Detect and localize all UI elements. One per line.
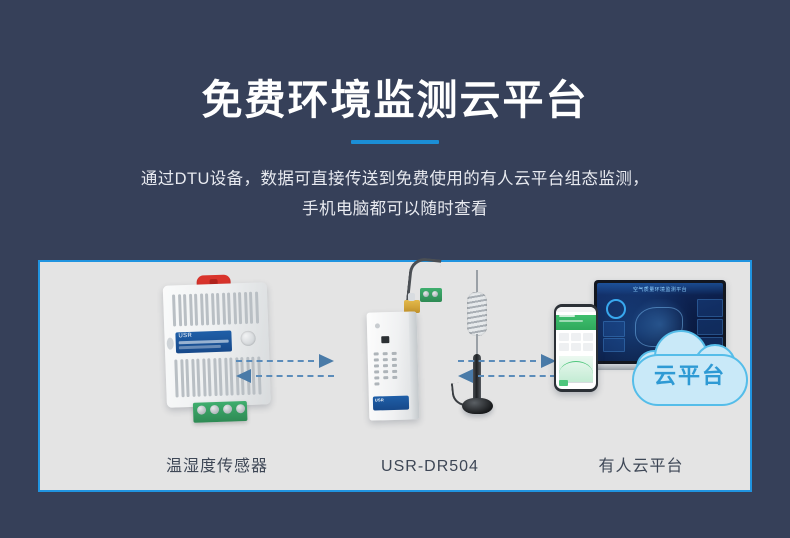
dashboard-panel — [697, 299, 723, 317]
cloud-platform-icon: 空气质量环境监测平台 — [536, 278, 748, 428]
sensor-indicator — [167, 338, 174, 350]
diagram-node-cloud: 空气质量环境监测平台 — [528, 272, 754, 494]
antenna-coil — [467, 292, 487, 336]
sensor-label-line-2 — [179, 345, 221, 349]
sensor-label-line-1 — [179, 340, 229, 345]
sensor-terminal-block — [193, 401, 248, 423]
dashboard-panel — [603, 321, 625, 337]
dashboard-panel — [603, 338, 625, 352]
dashboard-title: 空气质量环境监测平台 — [633, 286, 687, 293]
cloud-label: 云平台 — [632, 358, 748, 390]
phone-device — [554, 304, 598, 392]
antenna-rod-top — [476, 270, 478, 294]
arrow-head-left-icon — [458, 369, 473, 383]
arrow-left-1 — [236, 369, 334, 383]
diagram-stage: USR 温湿度传感器 — [40, 262, 750, 490]
magnetic-whip-antenna-icon — [450, 270, 504, 422]
dtu-body: USR — [367, 311, 420, 420]
dashboard-gauge-icon — [606, 299, 626, 319]
subtitle-line-2: 手机电脑都可以随时查看 — [45, 194, 745, 225]
temperature-humidity-sensor-icon: USR — [163, 282, 272, 418]
arrow-head-left-icon — [236, 369, 251, 383]
dtu-brand-label: USR — [373, 396, 409, 411]
phone-status-bar — [556, 307, 596, 312]
page-header: 免费环境监测云平台 通过DTU设备，数据可直接传送到免费使用的有人云平台组态监测… — [0, 0, 790, 225]
arrow-right-1 — [236, 354, 334, 368]
sensor-brand-label: USR — [175, 330, 232, 353]
antenna-magnetic-base — [462, 398, 493, 414]
sensor-brand-text: USR — [178, 333, 192, 339]
phone-screen — [556, 307, 596, 389]
dtu-brand-text: USR — [375, 397, 384, 402]
dtu-side-panel — [409, 311, 420, 419]
arrow-dashes — [236, 360, 314, 362]
phone-trend-chart — [559, 356, 593, 383]
antenna-rod-mid — [476, 334, 478, 356]
phone-data-grid — [556, 330, 596, 354]
cloud-platform-label: 有人云平台 — [598, 452, 683, 476]
dtu-status-dot — [375, 323, 380, 328]
phone-app-header — [556, 315, 596, 330]
page-subtitle: 通过DTU设备，数据可直接传送到免费使用的有人云平台组态监测， 手机电脑都可以随… — [45, 164, 745, 225]
connector-sensor-to-dtu — [236, 354, 334, 388]
dtu-reload-button[interactable] — [381, 336, 389, 343]
dtu-terminal-block — [420, 288, 442, 302]
arrow-dashes — [256, 375, 334, 377]
sensor-body: USR — [163, 282, 271, 408]
dtu-led-array — [374, 352, 405, 386]
title-divider — [351, 140, 439, 144]
sensor-screw — [240, 331, 256, 347]
diagram-card: USR 温湿度传感器 — [38, 260, 752, 492]
subtitle-line-1: 通过DTU设备，数据可直接传送到免费使用的有人云平台组态监测， — [45, 164, 745, 195]
arrow-dashes — [458, 360, 536, 362]
dtu-label: USR-DR504 — [381, 458, 479, 476]
din-rail-dtu-device-icon: USR — [350, 276, 510, 426]
sensor-vents-top — [172, 292, 259, 327]
page-title: 免费环境监测云平台 — [0, 0, 790, 124]
cloud-badge: 云平台 — [632, 328, 748, 412]
phone-footer-button[interactable] — [559, 380, 568, 386]
sensor-label: 温湿度传感器 — [166, 452, 268, 476]
